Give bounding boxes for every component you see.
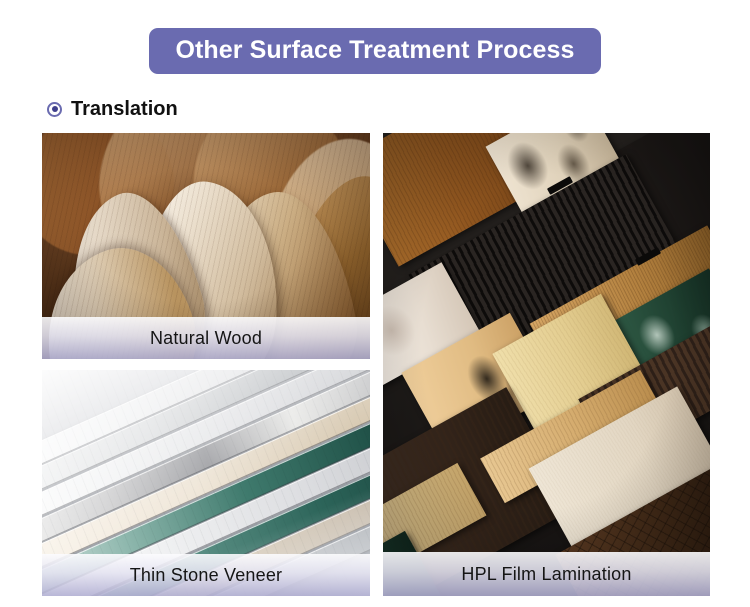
photo-natural-wood <box>42 133 370 359</box>
page-root: Other Surface Treatment Process Translat… <box>0 0 750 607</box>
wood-vignette <box>42 133 370 359</box>
translation-row: Translation <box>47 99 178 119</box>
page-title: Other Surface Treatment Process <box>149 28 600 74</box>
photo-hpl-film-lamination <box>383 133 710 596</box>
title-banner-wrapper: Other Surface Treatment Process <box>0 28 750 74</box>
card-hpl-film-lamination[interactable]: HPL Film Lamination <box>383 133 710 596</box>
photo-thin-stone-veneer <box>42 370 370 596</box>
card-natural-wood[interactable]: Natural Wood <box>42 133 370 359</box>
card-thin-stone-veneer[interactable]: Thin Stone Veneer <box>42 370 370 596</box>
hpl-vignette <box>383 133 710 596</box>
radio-selected-icon <box>47 102 62 117</box>
translation-label: Translation <box>71 99 178 119</box>
